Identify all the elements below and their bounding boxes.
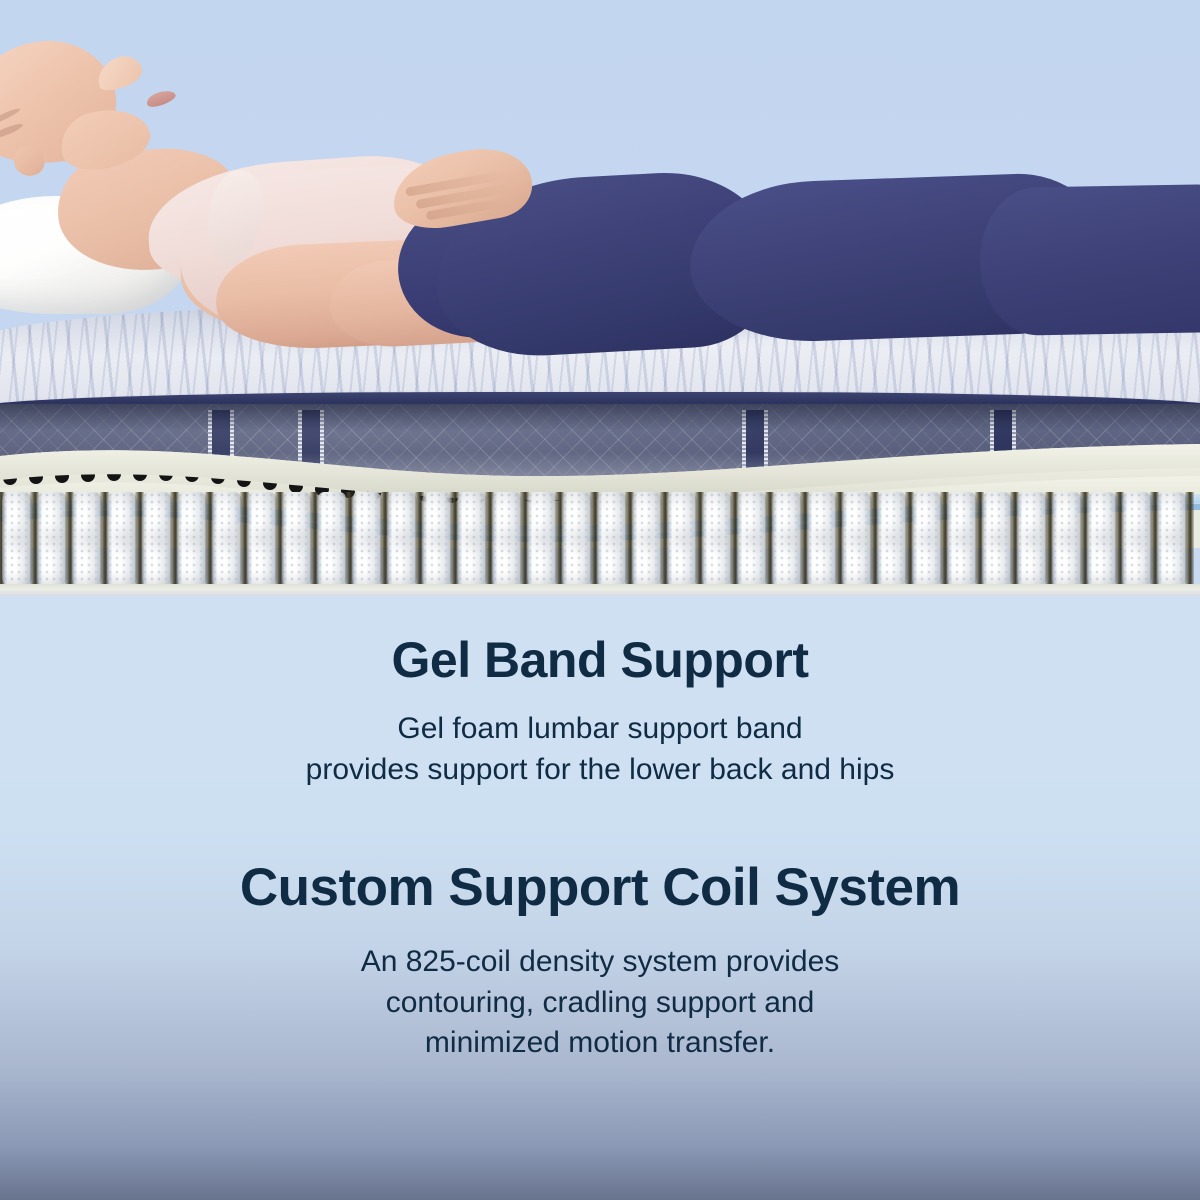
gel-band-support-description: Gel foam lumbar support band provides su…	[0, 709, 1200, 790]
description-line: contouring, cradling support and	[0, 983, 1200, 1024]
coil	[842, 492, 872, 586]
gel-band-support-heading: Gel Band Support	[0, 634, 1200, 687]
coil	[702, 492, 732, 586]
coil	[772, 492, 802, 586]
coil	[492, 492, 522, 586]
coil	[1052, 492, 1082, 586]
coil	[142, 492, 172, 586]
coil	[352, 492, 382, 586]
person-closed-eye	[0, 122, 24, 141]
coil	[982, 492, 1012, 586]
coil	[562, 492, 592, 586]
coil	[1017, 492, 1047, 586]
coil	[72, 492, 102, 586]
coil	[667, 492, 697, 586]
description-line: An 825-coil density system provides	[0, 942, 1200, 983]
coil	[877, 492, 907, 586]
feature-block-custom-support-coil-system: Custom Support Coil System An 825-coil d…	[0, 790, 1200, 1064]
coil	[177, 492, 207, 586]
hero-photo	[0, 0, 1200, 596]
coil	[807, 492, 837, 586]
person-lower-leg	[979, 184, 1200, 337]
coil	[247, 492, 277, 586]
coil	[597, 492, 627, 586]
coil	[947, 492, 977, 586]
coil	[1157, 492, 1187, 586]
person-lips	[145, 88, 178, 110]
feature-block-gel-band-support: Gel Band Support Gel foam lumbar support…	[0, 596, 1200, 790]
coil	[737, 492, 767, 586]
custom-support-coil-system-heading: Custom Support Coil System	[0, 860, 1200, 916]
feature-image-page: Gel Band Support Gel foam lumbar support…	[0, 0, 1200, 1200]
description-line: provides support for the lower back and …	[0, 750, 1200, 791]
description-line: Gel foam lumbar support band	[0, 709, 1200, 750]
coil	[1122, 492, 1152, 586]
coil	[912, 492, 942, 586]
coil	[422, 492, 452, 586]
coil-seam	[1185, 492, 1194, 586]
mattress-base-strip	[0, 584, 1200, 596]
coil	[527, 492, 557, 586]
coil	[317, 492, 347, 586]
coil	[282, 492, 312, 586]
description-line: minimized motion transfer.	[0, 1023, 1200, 1064]
feature-text-panel: Gel Band Support Gel foam lumbar support…	[0, 596, 1200, 1200]
person-nose	[92, 50, 146, 95]
custom-support-coil-system-description: An 825-coil density system provides cont…	[0, 942, 1200, 1064]
coil	[212, 492, 242, 586]
coil	[1087, 492, 1117, 586]
coil	[457, 492, 487, 586]
coil	[387, 492, 417, 586]
coil	[107, 492, 137, 586]
coil	[37, 492, 67, 586]
coil	[2, 492, 32, 586]
pocketed-coil-system	[0, 492, 1200, 588]
coil	[632, 492, 662, 586]
